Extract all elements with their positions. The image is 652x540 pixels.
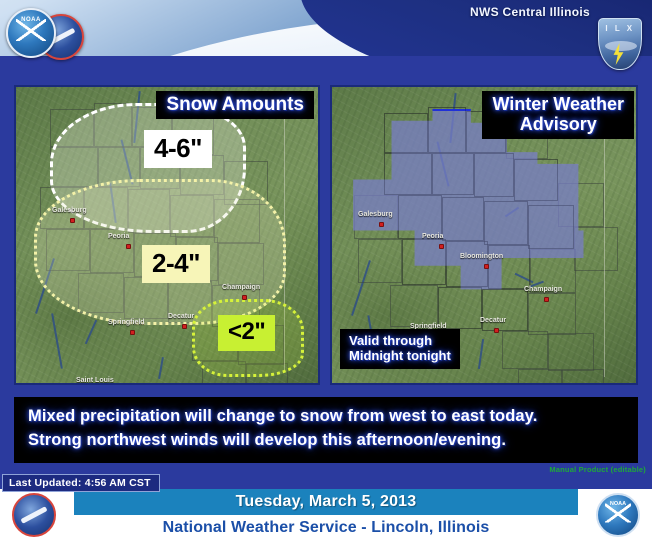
forecast-message-banner: Mixed precipitation will change to snow … — [14, 397, 638, 463]
snow-amount-label-4-6: 4-6" — [144, 130, 212, 168]
city-label-galesburg: Galesburg — [52, 207, 87, 214]
nws-seal-footer-icon — [12, 493, 56, 537]
city-dot-decatur — [182, 324, 187, 329]
city-label-peoria: Peoria — [108, 233, 129, 240]
winter-weather-advisory-title: Winter Weather Advisory — [482, 91, 634, 139]
cloud-icon — [605, 41, 637, 51]
page-footer: Tuesday, March 5, 2013 National Weather … — [0, 489, 652, 540]
footer-date-text: Tuesday, March 5, 2013 — [236, 493, 417, 511]
noaa-seal-footer-icon — [596, 493, 640, 537]
snow-amounts-title: Snow Amounts — [156, 91, 314, 119]
city-dot-decatur-r — [494, 328, 499, 333]
city-label-decatur: Decatur — [168, 313, 194, 320]
snow-amounts-map-panel[interactable]: Galesburg Peoria Bloomington Champaign S… — [14, 85, 320, 385]
city-label-decatur-r: Decatur — [480, 317, 506, 324]
advisory-title-line1: Winter Weather — [492, 94, 624, 114]
forecast-message-line2: Strong northwest winds will develop this… — [14, 426, 638, 450]
city-dot-champaign — [242, 295, 247, 300]
city-dot-springfield — [130, 330, 135, 335]
footer-office-band: National Weather Service - Lincoln, Illi… — [74, 515, 578, 540]
city-dot-galesburg — [70, 218, 75, 223]
header-base-strip — [0, 56, 652, 78]
city-label-bloomington-r: Bloomington — [460, 253, 503, 260]
city-dot-champaign-r — [544, 297, 549, 302]
advisory-valid-line2: Midnight tonight — [349, 348, 451, 364]
noaa-seal-icon — [6, 8, 56, 58]
weather-graphic-root: NWS Central Illinois I L X — [0, 0, 652, 540]
snow-amount-label-lt2: <2" — [218, 315, 275, 351]
footer-date-band: Tuesday, March 5, 2013 — [74, 489, 578, 515]
page-header: NWS Central Illinois I L X — [0, 0, 652, 78]
snow-amount-label-2-4: 2-4" — [142, 245, 210, 283]
manual-product-note: Manual Product (editable) — [549, 465, 646, 474]
header-office-title: NWS Central Illinois — [470, 5, 590, 19]
city-label-champaign: Champaign — [222, 284, 260, 291]
winter-weather-advisory-map-panel[interactable]: Galesburg Peoria Bloomington Champaign S… — [330, 85, 638, 385]
city-label-saint-louis: Saint Louis — [76, 377, 114, 384]
advisory-title-line2: Advisory — [492, 114, 624, 134]
city-label-effingham-r: Effingham — [510, 384, 544, 385]
last-updated-badge: Last Updated: 4:56 AM CST — [2, 474, 160, 492]
city-dot-peoria — [126, 244, 131, 249]
advisory-valid-box: Valid through Midnight tonight — [340, 329, 460, 369]
city-dot-peoria-r — [439, 244, 444, 249]
advisory-valid-line1: Valid through — [349, 333, 451, 349]
city-label-galesburg-r: Galesburg — [358, 211, 393, 218]
city-dot-galesburg-r — [379, 222, 384, 227]
city-label-champaign-r: Champaign — [524, 286, 562, 293]
forecast-message-line1: Mixed precipitation will change to snow … — [14, 397, 638, 426]
ilx-shield-label: I L X — [599, 24, 641, 33]
city-label-springfield: Springfield — [108, 319, 145, 326]
city-dot-bloomington-r — [484, 264, 489, 269]
city-label-peoria-r: Peoria — [422, 233, 443, 240]
footer-office-text: National Weather Service - Lincoln, Illi… — [163, 519, 490, 537]
